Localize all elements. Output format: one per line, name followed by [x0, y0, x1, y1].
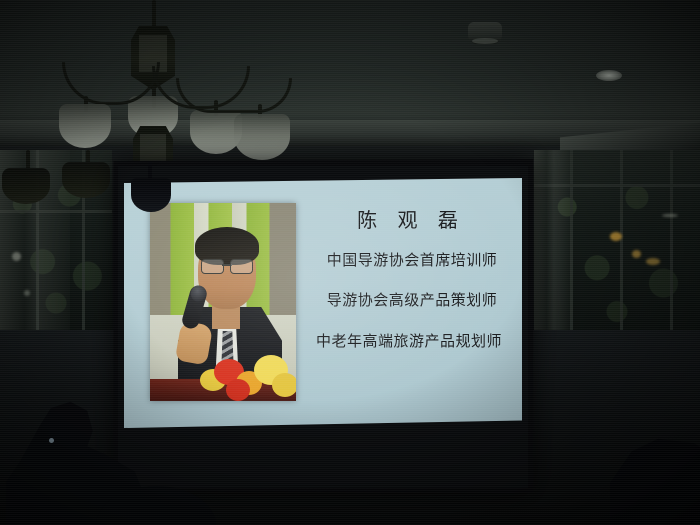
slide-title: 陈 观 磊: [336, 204, 486, 233]
outdoor-light-glow: [632, 250, 641, 258]
window-mullion: [620, 150, 623, 340]
outdoor-light-glow: [610, 232, 622, 241]
outdoor-light-glow: [662, 214, 678, 217]
flower-petal: [226, 379, 250, 401]
pendant-shade-icon: [2, 168, 50, 204]
outdoor-light-glow: [646, 258, 660, 265]
attendee-lapel-highlight: [49, 438, 54, 443]
pendant-cluster-lower-left: [0, 150, 120, 260]
portrait-flowers: [196, 353, 296, 401]
slide-credential-line-1: 中国导游协会首席培训师: [303, 249, 521, 270]
foreground-lamp-shade-icon: [131, 178, 171, 212]
glasses-lens-right: [230, 259, 253, 274]
window-mullion: [570, 150, 573, 340]
window-mullion: [670, 150, 673, 340]
smoke-detector-icon: [468, 22, 502, 44]
slide-credential-line-3: 中老年高端旅游产品规划师: [300, 330, 518, 351]
flower-petal: [272, 373, 296, 397]
chandelier-rod: [152, 0, 156, 30]
screenshot-root: 陈 观 磊 中国导游协会首席培训师 导游协会高级产品策划师 中老年高端旅游产品规…: [0, 0, 700, 525]
window-curtain: [534, 150, 570, 340]
glasses-lens-left: [201, 259, 224, 274]
slide-credential-line-2: 导游协会高级产品策划师: [303, 289, 521, 310]
window-right: [534, 150, 700, 340]
recessed-downlight-icon: [596, 70, 622, 81]
chandelier-shade-far-right-icon: [234, 114, 290, 160]
portrait-glasses-icon: [201, 259, 253, 272]
chandelier-arm-far-right: [176, 78, 292, 113]
pendant-shade-icon: [62, 162, 110, 198]
speaker-portrait-photo: [150, 203, 296, 401]
chandelier-shade-left-icon: [59, 104, 111, 148]
